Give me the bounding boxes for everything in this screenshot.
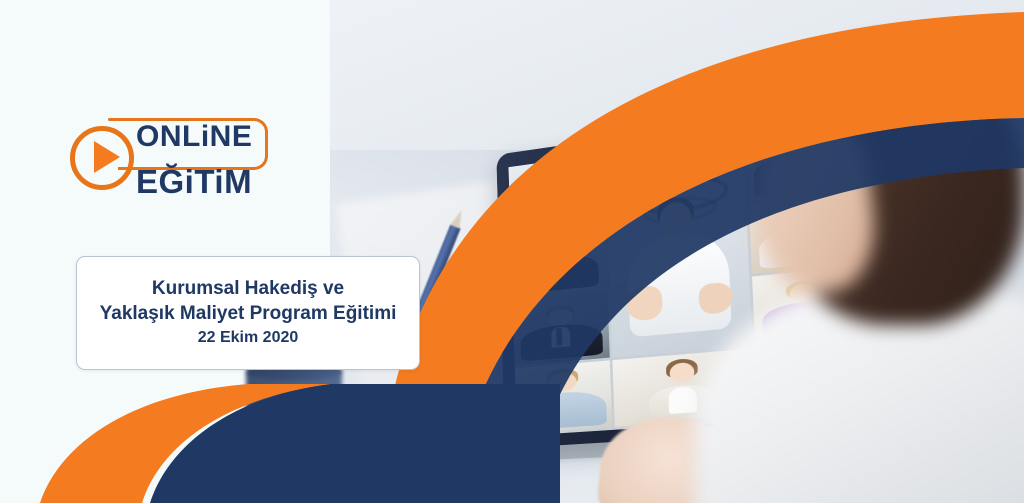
training-title-card: Kurumsal Hakediş ve Yaklaşık Maliyet Pro… [76, 256, 420, 370]
training-date: 22 Ekim 2020 [198, 326, 299, 350]
logo-text-egitim: EĞiTiM [136, 165, 252, 198]
photo-composition [0, 0, 1024, 503]
participant-tile-9 [515, 360, 612, 433]
logo-text-online: ONLiNE [136, 122, 252, 152]
training-title-line-1: Kurumsal Hakediş ve [152, 276, 344, 301]
participant-tile-7 [513, 291, 610, 365]
online-training-banner: ONLiNE EĞiTiM Kurumsal Hakediş ve Yaklaş… [0, 0, 1024, 503]
play-icon [94, 141, 120, 173]
foreground-viewer [734, 40, 1024, 503]
participant-tile-1 [508, 154, 604, 231]
online-egitim-logo: ONLiNE EĞiTiM [70, 108, 290, 216]
active-speaker-tile [605, 134, 753, 357]
participant-tile-5 [511, 222, 608, 298]
mug [246, 366, 342, 503]
training-title-line-2: Yaklaşık Maliyet Program Eğitimi [100, 301, 397, 326]
